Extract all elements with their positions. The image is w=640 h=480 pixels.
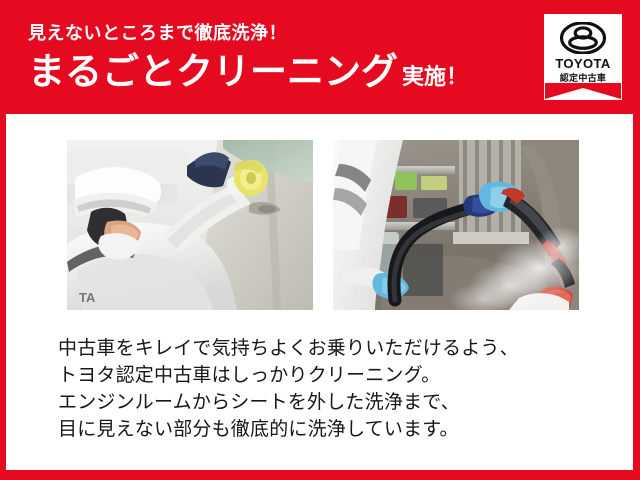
body-line-3: エンジンルームからシートを外した洗浄まで、 bbox=[58, 389, 588, 416]
body-line-2: トヨタ認定中古車はしっかりクリーニング。 bbox=[58, 362, 588, 389]
toyota-wordmark: TOYOTA bbox=[545, 56, 621, 71]
header-subheadline: 見えないところまで徹底洗浄！ bbox=[28, 22, 528, 44]
header-banner: 見えないところまで徹底洗浄！ まるごとクリーニング 実施！ TOYOTA 認定中… bbox=[0, 0, 640, 114]
headline-main: まるごとクリーニング bbox=[28, 51, 398, 93]
toyota-certified-logo: TOYOTA 認定中古車 bbox=[544, 14, 622, 100]
logo-inner: TOYOTA 認定中古車 bbox=[545, 15, 621, 99]
photo-polishing-car-body: TA bbox=[67, 140, 313, 310]
body-text-block: 中古車をキレイで気持ちよくお乗りいただけるよう、 トヨタ認定中古車はしっかりクリ… bbox=[58, 335, 588, 443]
header-text-block: 見えないところまで徹底洗浄！ まるごとクリーニング 実施！ bbox=[28, 22, 528, 98]
promo-poster: 見えないところまで徹底洗浄！ まるごとクリーニング 実施！ TOYOTA 認定中… bbox=[0, 0, 640, 480]
photo-left-artwork: TA bbox=[67, 140, 313, 310]
body-line-1: 中古車をキレイで気持ちよくお乗りいただけるよう、 bbox=[58, 335, 588, 362]
headline-suffix: 実施！ bbox=[402, 56, 468, 98]
toyota-emblem-icon bbox=[560, 22, 606, 54]
svg-text:TA: TA bbox=[79, 290, 96, 305]
photo-right-artwork bbox=[333, 140, 579, 310]
body-line-4: 目に見えない部分も徹底的に洗浄しています。 bbox=[58, 416, 588, 443]
logo-chevron-shape bbox=[545, 83, 621, 99]
photo-steam-cleaning-seat bbox=[333, 140, 579, 310]
photo-gallery: TA bbox=[67, 140, 579, 310]
headline-row: まるごとクリーニング 実施！ bbox=[28, 51, 528, 98]
